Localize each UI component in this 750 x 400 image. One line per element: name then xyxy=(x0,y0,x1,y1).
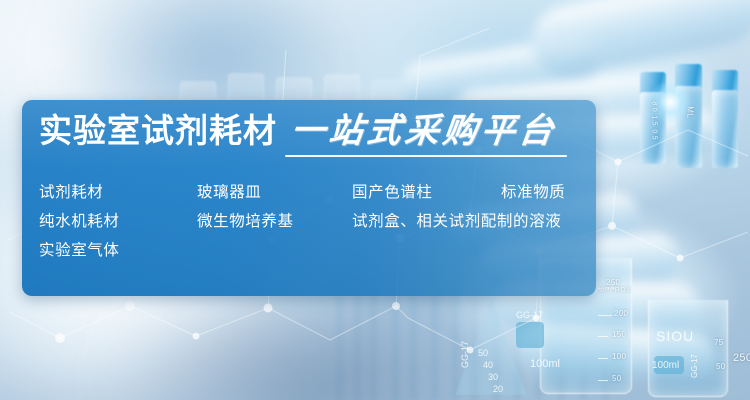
title-underline xyxy=(285,155,567,157)
beaker-right-volume-100ml: 100ml xyxy=(652,360,679,371)
category-item-laboratory-gas[interactable]: 实验室气体 xyxy=(39,238,120,260)
title-main-text: 实验室试剂耗材 xyxy=(39,114,277,147)
vial-unit-label: ML xyxy=(686,106,695,118)
category-item-glassware[interactable]: 玻璃器皿 xyxy=(197,180,261,202)
category-row: 试剂耗材 玻璃器皿 国产色谱柱 标准物质 xyxy=(39,180,584,209)
flask-graduation-50: 50 xyxy=(478,348,488,358)
beaker-right-brand-gg17: GG-17 xyxy=(690,354,699,378)
category-grid: 试剂耗材 玻璃器皿 国产色谱柱 标准物质 纯水机耗材 微生物培养基 试剂盒、相关… xyxy=(39,180,584,267)
content-panel: 实验室试剂耗材 一站式采购平台 试剂耗材 玻璃器皿 国产色谱柱 标准物质 纯水机… xyxy=(22,100,596,296)
flask-graduation-20: 20 xyxy=(493,384,503,394)
category-item-water-purifier-consumables[interactable]: 纯水机耗材 xyxy=(39,209,120,231)
beaker-graduation-100: 100 xyxy=(612,352,626,361)
beaker-far-right-graduation-250: 250 xyxy=(733,352,750,364)
beaker-right xyxy=(648,300,728,397)
vial-graduation-label: 8.0 xyxy=(651,101,658,112)
flask-graduation-40: 40 xyxy=(483,360,493,370)
vial-graduation-label: 0.5 xyxy=(651,129,658,140)
beaker-graduation-approx: APPROX xyxy=(600,287,631,294)
category-row: 纯水机耗材 微生物培养基 试剂盒、相关试剂配制的溶液 xyxy=(39,209,584,238)
flask-brand-gg17: GG-17 xyxy=(460,341,470,368)
beaker-graduation-200: 200 xyxy=(614,309,628,318)
beaker-volume-100ml: 100ml xyxy=(530,358,560,370)
category-item-microbial-culture-medium[interactable]: 微生物培养基 xyxy=(197,209,294,231)
banner-title: 实验室试剂耗材 一站式采购平台 xyxy=(39,114,557,157)
lab-reagent-banner: 8.0 1.5 0.5 ML 250 APPROX 200 150 100 50… xyxy=(0,0,750,400)
category-row: 实验室气体 xyxy=(39,238,584,267)
beaker-right-graduation-50: 50 xyxy=(716,362,726,371)
category-item-reagent-kits-solutions[interactable]: 试剂盒、相关试剂配制的溶液 xyxy=(352,209,561,231)
vial-graduation-label: 1.5 xyxy=(651,115,658,126)
title-sub-wrap: 一站式采购平台 xyxy=(291,114,557,157)
title-sub-text: 一站式采购平台 xyxy=(289,114,559,148)
category-item-reagent-consumables[interactable]: 试剂耗材 xyxy=(39,180,103,202)
flask-graduation-30: 30 xyxy=(488,372,498,382)
category-item-reference-material[interactable]: 标准物质 xyxy=(501,180,565,202)
beaker-graduation-150: 150 xyxy=(612,330,626,339)
category-item-domestic-chromatography-column[interactable]: 国产色谱柱 xyxy=(352,180,433,202)
beaker-right-graduation-75: 75 xyxy=(714,338,724,347)
beaker-brand-siou: SIOU xyxy=(656,328,694,344)
beaker-graduation-50: 50 xyxy=(612,374,622,383)
beaker-graduation-250: 250 xyxy=(606,278,620,287)
